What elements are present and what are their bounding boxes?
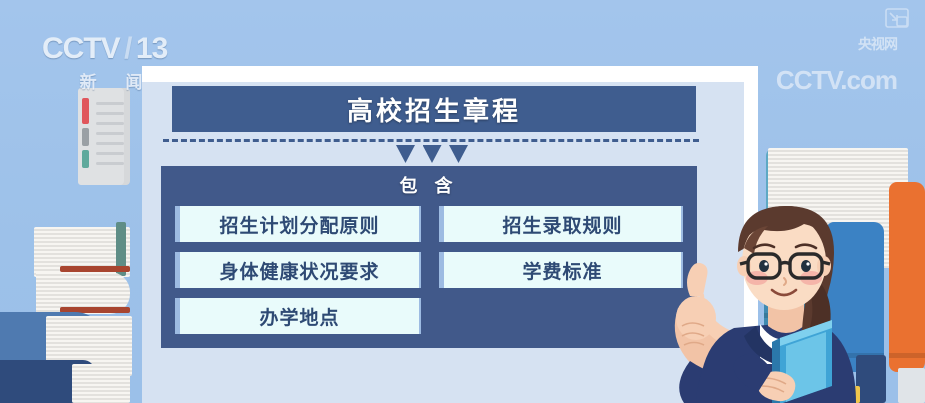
site-watermark: 央视网 CCTV.com — [776, 34, 897, 96]
channel-number: 13 — [136, 32, 167, 65]
teacher-illustration — [660, 178, 910, 403]
item-row: 身体健康状况要求 学费标准 — [175, 252, 683, 288]
slide-title-bar: 高校招生章程 — [172, 86, 696, 132]
item-row: 招生计划分配原则 招生录取规则 — [175, 206, 683, 242]
page-title: 高校招生章程 — [347, 91, 521, 128]
contains-section: 包 含 招生计划分配原则 招生录取规则 身体健康状况要求 学费标准 办学地点 — [161, 166, 697, 348]
arrow-down-triangles — [396, 145, 468, 163]
dashed-divider — [163, 139, 699, 142]
channel-logo-text: CCTV — [42, 32, 120, 65]
contains-item-list: 招生计划分配原则 招生录取规则 身体健康状况要求 学费标准 办学地点 — [161, 200, 697, 334]
channel-subtitle: 新 闻 — [42, 68, 192, 93]
list-item: 招生计划分配原则 — [175, 206, 421, 242]
triangle-down-icon — [423, 145, 442, 163]
item-row: 办学地点 — [175, 298, 683, 334]
list-item: 身体健康状况要求 — [175, 252, 421, 288]
watermark-main: CCTV.com — [776, 65, 897, 96]
list-item: 办学地点 — [175, 298, 421, 334]
list-item: 招生录取规则 — [439, 206, 683, 242]
triangle-down-icon — [396, 145, 415, 163]
file-folder-icon — [78, 88, 130, 185]
picture-in-picture-icon — [885, 8, 909, 28]
triangle-down-icon — [449, 145, 468, 163]
watermark-cn: 央视网 — [858, 36, 897, 52]
channel-logo: CCTV / 13 新 闻 — [42, 32, 192, 92]
broadcast-frame: 高校招生章程 包 含 招生计划分配原则 招生录取规则 身体健康状况要求 学费标准… — [0, 0, 925, 403]
contains-label: 包 含 — [161, 170, 697, 200]
list-item: 学费标准 — [439, 252, 683, 288]
